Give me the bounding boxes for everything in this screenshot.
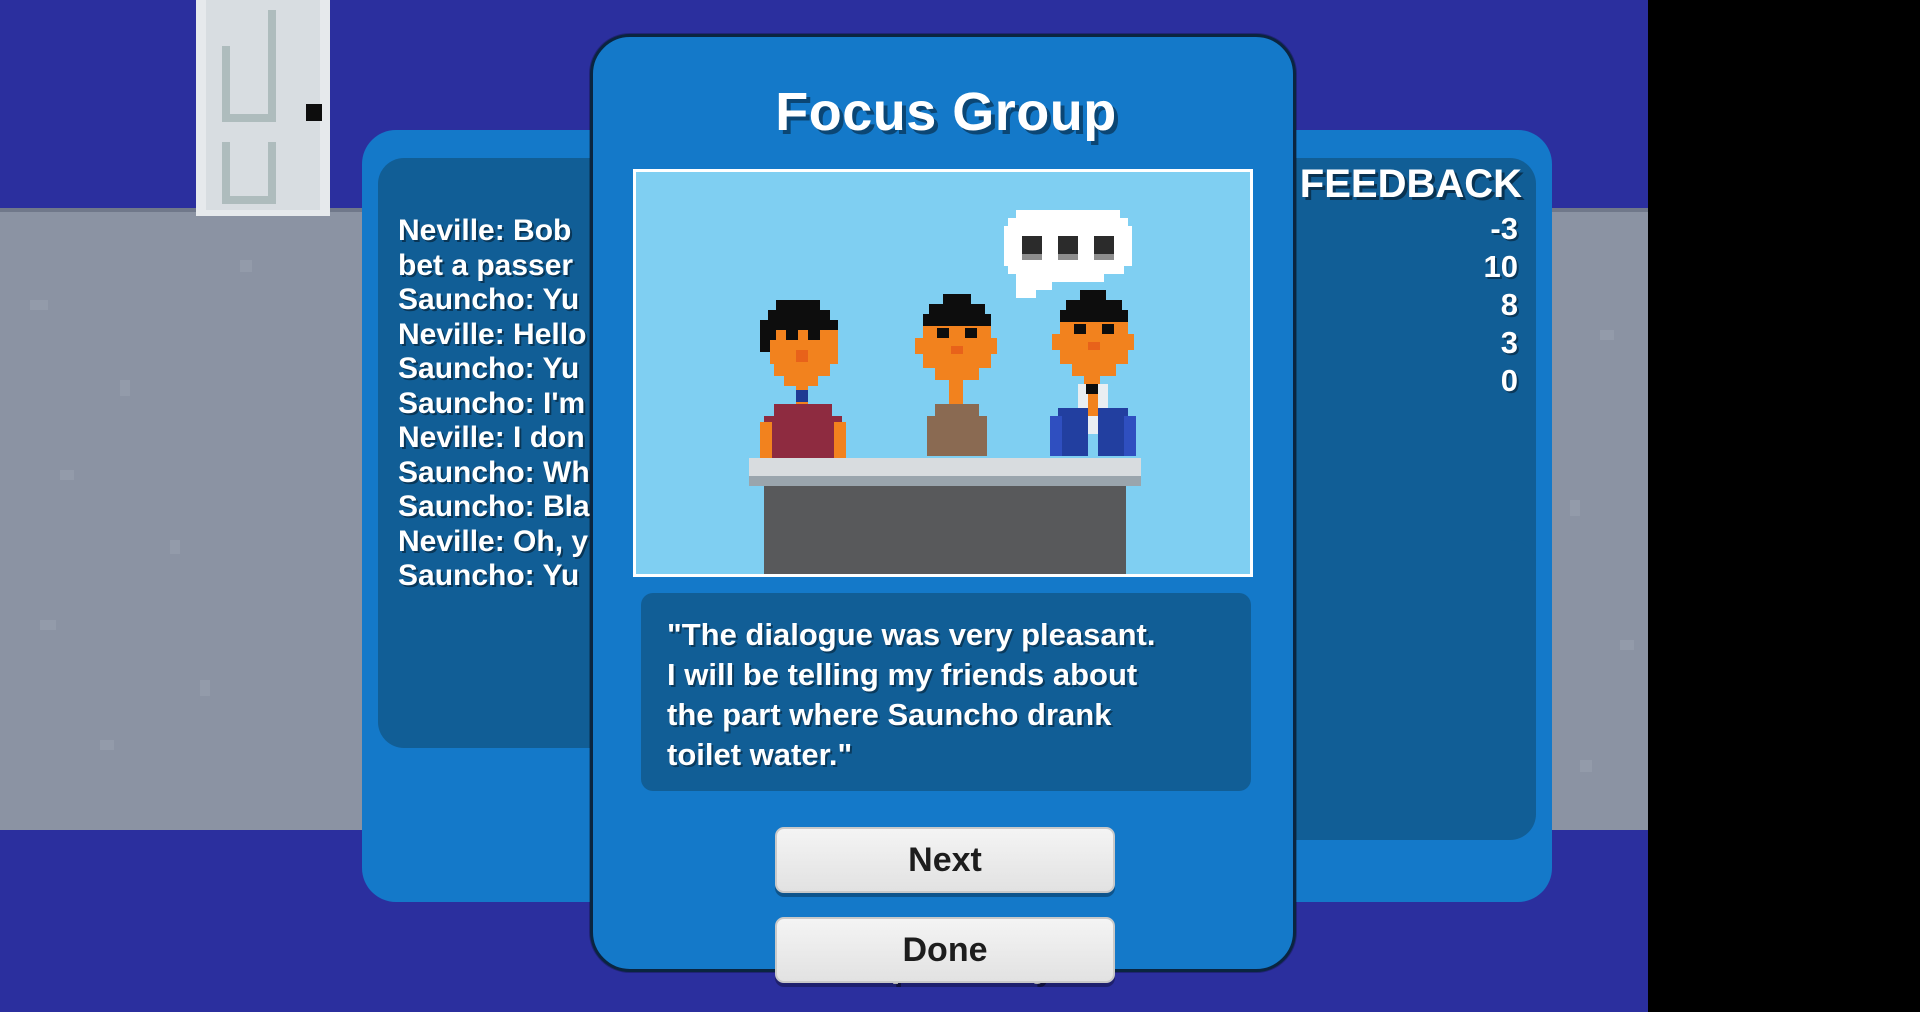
door-detail [222, 142, 230, 204]
door-detail [268, 142, 276, 204]
wall-speck [240, 260, 252, 272]
table-surface [749, 458, 1141, 476]
table-front [764, 486, 1126, 574]
wall-speck [1620, 640, 1634, 650]
wall-speck [100, 740, 114, 750]
feedback-quote: "The dialogue was very pleasant. I will … [641, 593, 1251, 791]
wall-speck [1580, 760, 1592, 772]
door-detail [222, 114, 276, 122]
door-knob[interactable] [306, 104, 322, 121]
focus-group-scene [633, 169, 1253, 577]
wall-speck [200, 680, 210, 696]
wall-speck [1570, 500, 1580, 516]
door-detail [268, 10, 276, 122]
focus-group-modal: Focus Group [590, 34, 1296, 972]
door-detail [222, 46, 230, 122]
table-edge [749, 476, 1141, 486]
done-button[interactable]: Done [775, 917, 1115, 983]
wall-speck [40, 620, 56, 630]
speech-bubble-icon [1004, 210, 1132, 298]
wall-speck [120, 380, 130, 396]
game-screen: T Neville: Bob bet a passer Sauncho: Yu … [0, 0, 1920, 1012]
next-button[interactable]: Next [775, 827, 1115, 893]
door-detail [222, 196, 276, 204]
wall-speck [170, 540, 180, 554]
wall-speck [30, 300, 48, 310]
door-panel [206, 0, 320, 210]
letterbox-bar [1648, 0, 1920, 1012]
wall-speck [1600, 330, 1614, 340]
modal-title: Focus Group [593, 81, 1299, 143]
wall-speck [60, 470, 74, 480]
